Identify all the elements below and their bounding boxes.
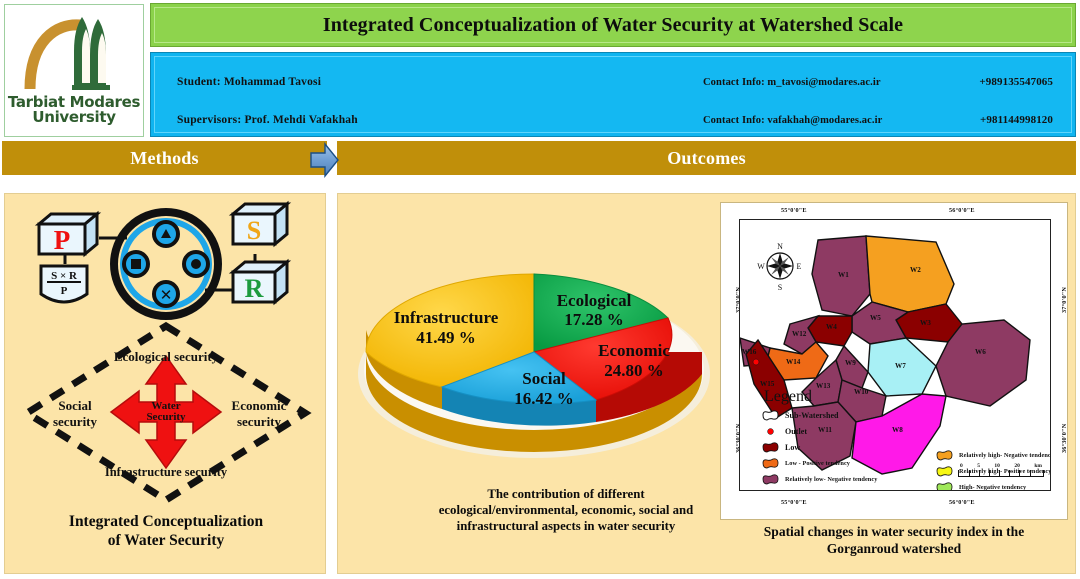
section-label-outcomes: Outcomes [667, 148, 746, 169]
legend-label: Sub-Watershed [785, 411, 839, 420]
contact-band: Student: Mohammad Tavosi Contact Info: m… [150, 52, 1076, 137]
legend-item-outlet: Outlet [762, 424, 942, 438]
methods-caption-line2: of Water Security [13, 531, 319, 550]
svg-text:Security: Security [146, 411, 186, 423]
legend-label: Low [785, 443, 800, 452]
r-cube-icon: R [233, 262, 287, 303]
legend-label: Relatively low- Negative tendency [785, 476, 877, 483]
legend-item-high-negative: High- Negative tendency [936, 480, 1051, 491]
scale-unit: km [1034, 463, 1042, 469]
svg-text:S × R: S × R [51, 270, 78, 282]
watershed-label-w4: W4 [826, 323, 837, 331]
contact-row: Student: Mohammad Tavosi Contact Info: m… [155, 69, 1071, 95]
svg-text:Infrastructure: Infrastructure [394, 308, 499, 327]
legend-patch-icon [936, 482, 953, 492]
poster-title-inner: Integrated Conceptualization of Water Se… [154, 7, 1072, 43]
svg-text:E: E [797, 262, 802, 271]
water-security-pie-chart: Ecological 17.28 % Economic 24.80 % Soci… [346, 204, 722, 484]
watershed-label-w9: W9 [845, 359, 856, 367]
svg-text:S: S [247, 216, 261, 245]
map-coord-top-left: 55°0'0"E [781, 207, 807, 214]
legend-item-low: Low [762, 440, 942, 454]
shield-ratio-icon: S × R P [41, 266, 87, 302]
section-label-methods: Methods [130, 148, 198, 169]
legend-item-low-positive: Low - Positive tendency [762, 456, 942, 470]
map-coord-bottom-right: 56°0'0"E [949, 499, 975, 506]
legend-label: Relatively high- Negative tendency [959, 452, 1051, 459]
pie-chart-caption: The contribution of different ecological… [416, 487, 716, 535]
diamond-label-economic-1: Economic [232, 398, 287, 413]
watershed-label-w7: W7 [895, 362, 906, 370]
university-emblem-icon [22, 11, 126, 95]
legend-item-sub-watershed: Sub-Watershed [762, 408, 942, 422]
diamond-label-social-2: security [53, 414, 98, 429]
pie-caption-line3: infrastructural aspects in water securit… [416, 519, 716, 535]
svg-text:Social: Social [522, 369, 566, 388]
map-coord-top-right: 56°0'0"E [949, 207, 975, 214]
watershed-label-w15: W15 [760, 380, 774, 388]
scale-numbers: 0 5 10 20 km [958, 463, 1044, 469]
poster-title-band: Integrated Conceptualization of Water Se… [150, 3, 1076, 47]
student-email[interactable]: Contact Info: m_tavosi@modares.ac.ir [703, 77, 881, 88]
map-coord-right-upper: 37°0'0"N [1061, 287, 1068, 313]
legend-item-rel-high-negative: Relatively high- Negative tendency [936, 448, 1051, 462]
outcomes-panel: Ecological 17.28 % Economic 24.80 % Soci… [337, 193, 1076, 574]
scale-value-0: 0 [960, 463, 963, 469]
sub-watershed-outline-icon [762, 410, 779, 421]
map-caption-line2: Gorganroud watershed [716, 541, 1072, 558]
section-header-methods: Methods [2, 141, 327, 175]
svg-text:S: S [778, 283, 782, 292]
s-cube-icon: S [233, 204, 287, 245]
legend-label: Low - Positive tendency [785, 460, 850, 467]
section-header-outcomes: Outcomes [337, 141, 1076, 175]
pie-label-social: Social 16.42 % [514, 369, 574, 408]
map-caption: Spatial changes in water security index … [716, 524, 1072, 557]
student-phone: +989135547065 [979, 76, 1053, 88]
watershed-label-w10: W10 [854, 388, 868, 396]
watershed-label-w1: W1 [838, 271, 849, 279]
svg-text:P: P [61, 285, 68, 297]
student-name: Student: Mohammad Tavosi [177, 76, 321, 88]
legend-title: Legend [764, 388, 812, 406]
legend-item-rel-low-positive: Relatively low- Positive tendency [762, 488, 942, 491]
legend-patch-icon [762, 458, 779, 469]
scale-value-20: 20 [1014, 463, 1020, 469]
page-title: Integrated Conceptualization of Water Se… [323, 14, 903, 37]
map-caption-line1: Spatial changes in water security index … [716, 524, 1072, 541]
supervisor-phone: +981144998120 [980, 114, 1053, 126]
scale-value-10: 10 [994, 463, 1000, 469]
svg-text:24.80 %: 24.80 % [604, 361, 664, 380]
map-frame: N S W E W1 W2 W3 W4 W5 W6 W7 W8 W9 W10 W… [739, 219, 1051, 491]
watershed-label-w6: W6 [975, 348, 986, 356]
four-way-arrow-icon: Water Security [111, 356, 221, 468]
gorganroud-map: 55°0'0"E 56°0'0"E 55°0'0"E 56°0'0"E 37°0… [720, 202, 1068, 520]
legend-patch-icon [762, 442, 779, 453]
university-logo-text: Tarbiat Modares University [8, 95, 140, 126]
scale-value-5: 5 [977, 463, 980, 469]
methods-caption: Integrated Conceptualization of Water Se… [13, 512, 319, 550]
methods-conceptual-diagram: P S × R P ✕ [17, 198, 315, 508]
map-coord-bottom-left: 55°0'0"E [781, 499, 807, 506]
svg-text:41.49 %: 41.49 % [416, 328, 476, 347]
legend-patch-icon [762, 474, 779, 485]
watershed-label-w16: W16 [742, 348, 756, 356]
diamond-label-infrastructure: Infrastructure security [105, 465, 228, 479]
pie-label-economic: Economic 24.80 % [598, 341, 670, 380]
contact-inner: Student: Mohammad Tavosi Contact Info: m… [154, 56, 1072, 133]
poster-root: Tarbiat Modares University Integrated Co… [0, 0, 1080, 579]
legend-patch-icon [936, 450, 953, 461]
map-coord-right-lower: 36°30'0"N [1061, 424, 1068, 453]
legend-label: Outlet [785, 427, 807, 436]
methods-caption-line1: Integrated Conceptualization [13, 512, 319, 531]
svg-text:N: N [777, 242, 783, 251]
svg-text:P: P [54, 225, 71, 255]
svg-text:Ecological: Ecological [557, 291, 632, 310]
legend-patch-icon [936, 466, 953, 477]
legend-label: High- Negative tendency [959, 484, 1026, 491]
svg-text:W: W [757, 262, 765, 271]
outlet-dot-icon [762, 426, 779, 437]
svg-text:17.28 %: 17.28 % [564, 310, 624, 329]
watershed-label-w14: W14 [786, 358, 800, 366]
p-cube-icon: P [39, 214, 97, 255]
university-logo: Tarbiat Modares University [4, 4, 144, 137]
flow-arrow-icon [309, 141, 339, 179]
methods-panel: P S × R P ✕ [4, 193, 326, 574]
svg-text:✕: ✕ [160, 286, 173, 304]
watershed-label-w12: W12 [792, 330, 806, 338]
svg-text:Economic: Economic [598, 341, 670, 360]
diamond-label-ecological: Ecological security [114, 349, 219, 364]
controller-circle-icon: ✕ [114, 212, 218, 316]
scale-bar-line [958, 470, 1044, 477]
contact-row: Supervisors: Prof. Mehdi Vafakhah Contac… [155, 107, 1071, 133]
pie-caption-line1: The contribution of different [416, 487, 716, 503]
diamond-label-social-1: Social [58, 398, 92, 413]
svg-text:R: R [245, 274, 264, 303]
supervisor-email[interactable]: Contact Info: vafakhah@modares.ac.ir [703, 115, 882, 126]
logo-line-2: University [8, 110, 140, 125]
watershed-label-w3: W3 [920, 319, 931, 327]
pie-caption-line2: ecological/environmental, economic, soci… [416, 503, 716, 519]
watershed-label-w2: W2 [910, 266, 921, 274]
svg-text:16.42 %: 16.42 % [514, 389, 574, 408]
watershed-label-w13: W13 [816, 382, 830, 390]
watershed-label-w5: W5 [870, 314, 881, 322]
pie-label-ecological: Ecological 17.28 % [557, 291, 632, 329]
supervisor-name: Supervisors: Prof. Mehdi Vafakhah [177, 114, 358, 126]
legend-item-rel-low-negative: Relatively low- Negative tendency [762, 472, 942, 486]
compass-rose-icon: N S W E [757, 242, 801, 292]
map-scale-bar: 0 5 10 20 km [958, 463, 1044, 477]
diamond-label-economic-2: security [237, 414, 282, 429]
legend-patch-icon [762, 490, 779, 492]
legend-column-primary: Sub-Watershed Outlet Low [762, 408, 942, 491]
